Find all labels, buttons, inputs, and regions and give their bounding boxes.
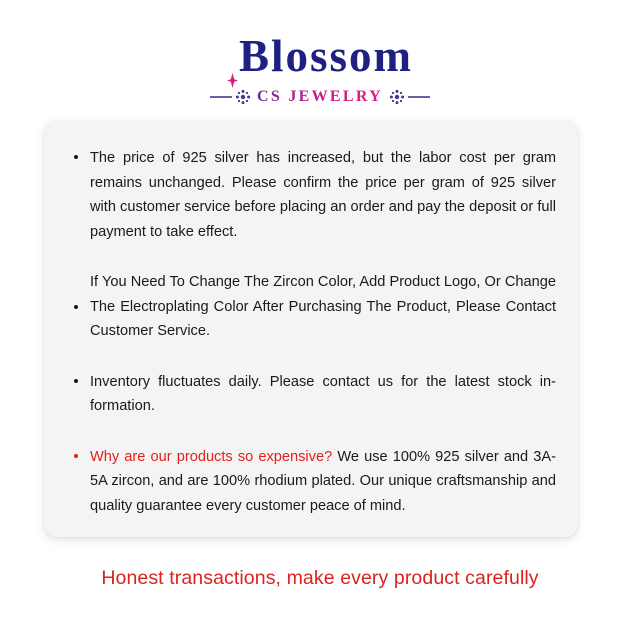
notice-item-pricing-explanation: Why are our products so expensive? We us… xyxy=(68,445,556,519)
notice-item-customization: If You Need To Change The Zircon Color, … xyxy=(68,270,556,344)
brand-subtitle-text: CS JEWELRY xyxy=(257,88,383,106)
notice-text: The price of 925 silver has increased, b… xyxy=(90,150,556,240)
notice-item-price: The price of 925 silver has increased, b… xyxy=(68,146,556,244)
flourish-right-icon xyxy=(388,89,430,105)
notice-card: The price of 925 silver has increased, b… xyxy=(44,120,578,537)
flourish-left-icon xyxy=(210,89,252,105)
bullet-icon xyxy=(74,305,78,309)
notice-text: Inventory fluctuates daily. Please conta… xyxy=(90,374,556,415)
bullet-icon xyxy=(74,454,78,458)
sparkle-icon xyxy=(227,51,238,66)
notice-list: The price of 925 silver has increased, b… xyxy=(68,146,556,518)
bullet-icon xyxy=(74,379,78,383)
notice-text: If You Need To Change The Zircon Color, … xyxy=(90,274,556,339)
notice-highlight-question: Why are our products so expensive? xyxy=(90,449,332,465)
brand-header: Blossom CS JEWELRY xyxy=(0,0,640,106)
brand-name: Blossom xyxy=(227,34,413,79)
notice-item-inventory: Inventory fluctuates daily. Please conta… xyxy=(68,370,556,419)
brand-name-text: Blossom xyxy=(239,31,413,81)
footer-tagline: Honest transactions, make every product … xyxy=(0,567,640,590)
brand-subtitle-row: CS JEWELRY xyxy=(0,88,640,106)
bullet-icon xyxy=(74,155,78,159)
